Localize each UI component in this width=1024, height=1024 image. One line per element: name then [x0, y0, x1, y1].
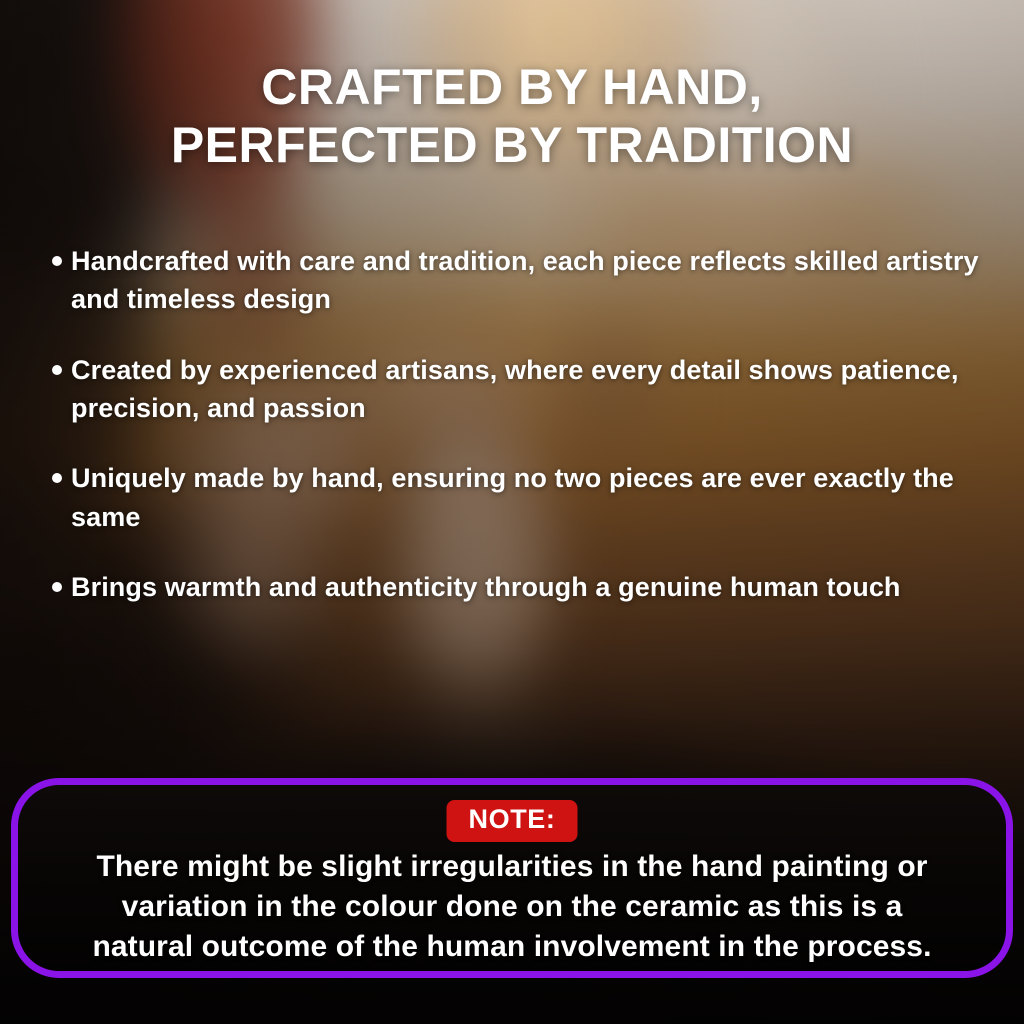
poster-content: CRAFTED BY HAND, PERFECTED BY TRADITION … [0, 0, 1024, 1024]
page-title-line-2: PERFECTED BY TRADITION [0, 116, 1024, 174]
page-title: CRAFTED BY HAND, PERFECTED BY TRADITION [0, 58, 1024, 174]
note-line-3: natural outcome of the human involvement… [36, 927, 988, 967]
list-item-text: Created by experienced artisans, where e… [71, 351, 984, 428]
list-item-text: Handcrafted with care and tradition, eac… [71, 242, 984, 319]
list-item: Brings warmth and authenticity through a… [52, 568, 984, 606]
note-line-2: variation in the colour done on the cera… [36, 887, 988, 927]
page-title-line-1: CRAFTED BY HAND, [0, 58, 1024, 116]
note-body-text: There might be slight irregularities in … [36, 847, 988, 967]
list-item-text: Brings warmth and authenticity through a… [71, 568, 901, 606]
bullet-dot-icon [52, 582, 62, 592]
bullet-dot-icon [52, 256, 62, 266]
note-callout-box: NOTE: There might be slight irregulariti… [11, 778, 1013, 978]
list-item: Handcrafted with care and tradition, eac… [52, 242, 984, 319]
list-item: Uniquely made by hand, ensuring no two p… [52, 459, 984, 536]
status-badge: NOTE: [447, 800, 578, 842]
promotional-poster: CRAFTED BY HAND, PERFECTED BY TRADITION … [0, 0, 1024, 1024]
feature-bullet-list: Handcrafted with care and tradition, eac… [52, 242, 984, 638]
note-line-1: There might be slight irregularities in … [36, 847, 988, 887]
bullet-dot-icon [52, 473, 62, 483]
list-item-text: Uniquely made by hand, ensuring no two p… [71, 459, 984, 536]
list-item: Created by experienced artisans, where e… [52, 351, 984, 428]
bullet-dot-icon [52, 365, 62, 375]
